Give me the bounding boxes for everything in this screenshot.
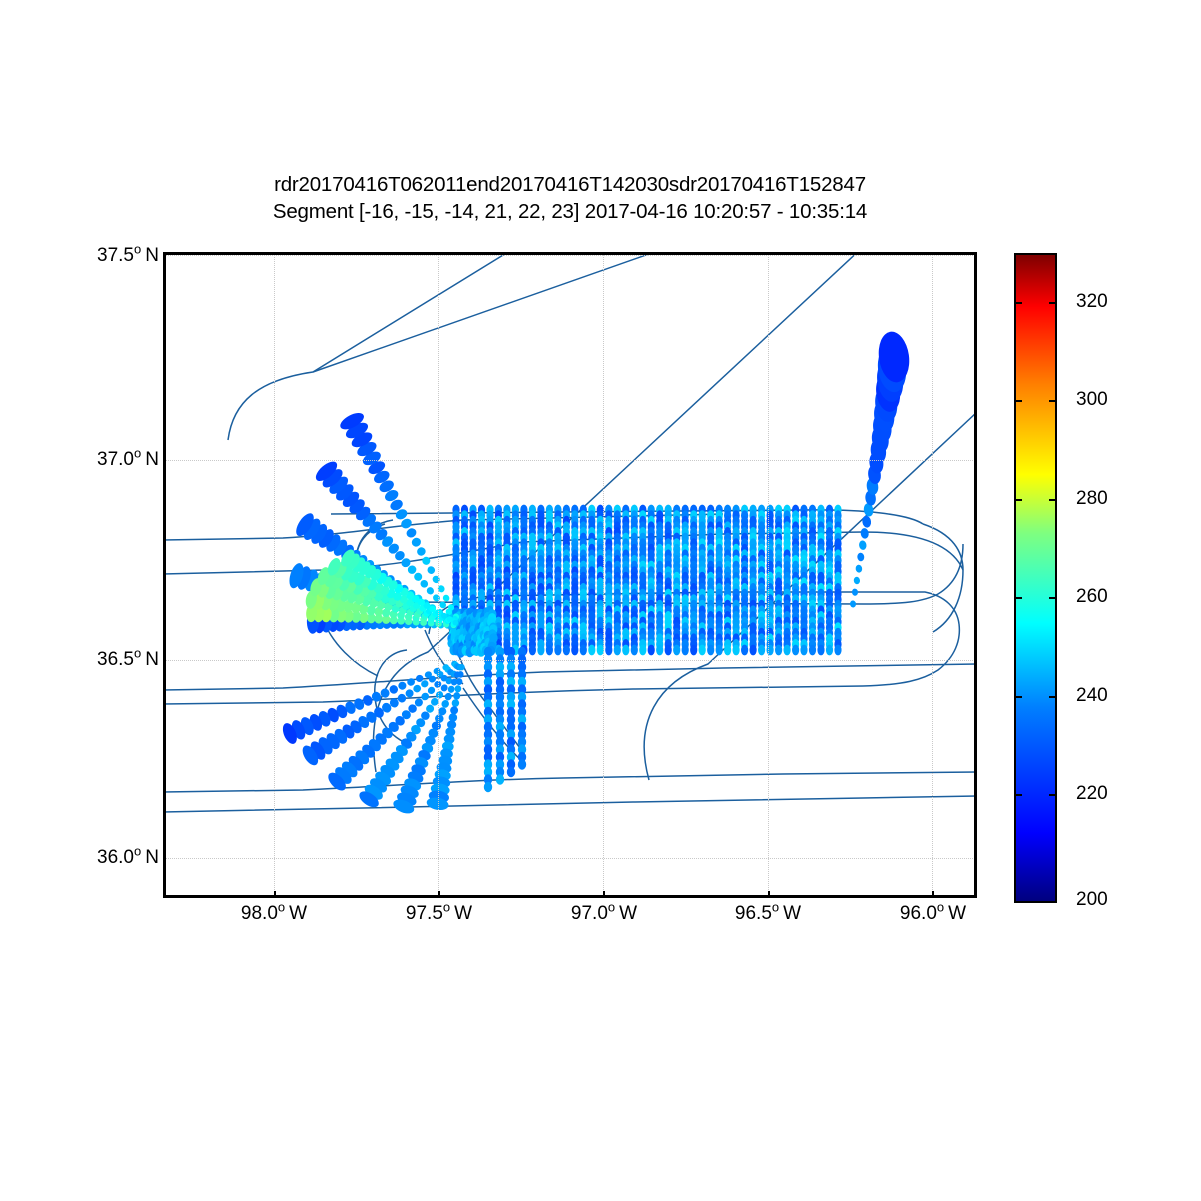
y-tick-label-36.0: 36.0oN (97, 847, 159, 869)
colorbar-tickmark (1049, 302, 1057, 304)
degree-symbol: o (278, 900, 285, 915)
chart-title: rdr20170416T062011end20170416T142030sdr2… (0, 172, 1140, 225)
x-tick-hemisphere: W (948, 903, 966, 924)
plot-area (163, 252, 977, 898)
colorbar-tickmark (1014, 696, 1022, 698)
colorbar-tick-label-300: 300 (1076, 389, 1108, 411)
x-tickmark (768, 891, 770, 898)
x-tick-label-96.5: 96.5oW (735, 903, 801, 925)
swath-footprint-grid (447, 505, 841, 658)
data-layer (163, 252, 977, 898)
y-tick-hemisphere: N (145, 649, 159, 670)
x-tick-label-96.0: 96.0oW (900, 903, 966, 925)
colorbar-tick-label-260: 260 (1076, 586, 1108, 608)
x-tick-value: 97.5 (406, 903, 443, 924)
degree-symbol: o (134, 446, 141, 461)
x-tick-value: 98.0 (241, 903, 278, 924)
gridline-vertical (603, 252, 604, 898)
y-tick-hemisphere: N (145, 449, 159, 470)
y-tick-value: 37.0 (97, 449, 134, 470)
colorbar-tick-label-320: 320 (1076, 291, 1108, 313)
y-tick-hemisphere: N (145, 245, 159, 266)
colorbar-tickmark (1049, 400, 1057, 402)
colorbar-tick-label-200: 200 (1076, 889, 1108, 911)
colorbar-gradient (1016, 255, 1055, 901)
x-tickmark (603, 891, 605, 898)
map-axes (163, 252, 977, 898)
colorbar-tickmark (1049, 696, 1057, 698)
colorbar-tickmark (1014, 302, 1022, 304)
x-tick-value: 96.5 (735, 903, 772, 924)
gridline-vertical (438, 252, 439, 898)
gridline-vertical (274, 252, 275, 898)
y-tick-label-37.0: 37.0oN (97, 449, 159, 471)
x-tick-hemisphere: W (783, 903, 801, 924)
x-tick-label-97.0: 97.0oW (571, 903, 637, 925)
east-beam-footprints (850, 330, 913, 608)
colorbar-tickmark (1049, 597, 1057, 599)
colorbar (1014, 253, 1057, 903)
colorbar-tickmark (1014, 499, 1022, 501)
y-tick-value: 36.0 (97, 847, 134, 868)
colorbar-tick-label-240: 240 (1076, 685, 1108, 707)
degree-symbol: o (772, 900, 779, 915)
degree-symbol: o (443, 900, 450, 915)
x-tick-label-97.5: 97.5oW (406, 903, 472, 925)
degree-symbol: o (937, 900, 944, 915)
title-line-1: rdr20170416T062011end20170416T142030sdr2… (0, 172, 1140, 199)
x-tick-value: 96.0 (900, 903, 937, 924)
y-tick-value: 36.5 (97, 649, 134, 670)
y-tick-value: 37.5 (97, 245, 134, 266)
x-tickmark (932, 891, 934, 898)
colorbar-tickmark (1014, 794, 1022, 796)
title-line-2: Segment [-16, -15, -14, 21, 22, 23] 2017… (0, 199, 1140, 226)
gridline-horizontal (163, 858, 977, 859)
degree-symbol: o (134, 844, 141, 859)
x-tickmark (438, 891, 440, 898)
x-tick-hemisphere: W (619, 903, 637, 924)
vertical-scan-columns (484, 647, 526, 792)
y-tick-hemisphere: N (145, 847, 159, 868)
gridline-horizontal (163, 660, 977, 661)
colorbar-tickmark (1049, 794, 1057, 796)
gridline-horizontal (163, 460, 977, 461)
x-tick-value: 97.0 (571, 903, 608, 924)
colorbar-tickmark (1014, 400, 1022, 402)
x-tick-hemisphere: W (454, 903, 472, 924)
x-tick-label-98.0: 98.0oW (241, 903, 307, 925)
degree-symbol: o (134, 646, 141, 661)
y-tick-label-37.5: 37.5oN (97, 245, 159, 267)
x-tick-hemisphere: W (289, 903, 307, 924)
colorbar-tickmark (1014, 597, 1022, 599)
degree-symbol: o (134, 242, 141, 257)
figure-canvas: rdr20170416T062011end20170416T142030sdr2… (0, 0, 1201, 1201)
gridline-vertical (768, 252, 769, 898)
colorbar-tick-label-280: 280 (1076, 488, 1108, 510)
x-tickmark (274, 891, 276, 898)
colorbar-tickmark (1049, 499, 1057, 501)
gridline-vertical (932, 252, 933, 898)
y-tick-label-36.5: 36.5oN (97, 649, 159, 671)
gridline-horizontal (163, 255, 977, 256)
colorbar-tick-label-220: 220 (1076, 783, 1108, 805)
degree-symbol: o (608, 900, 615, 915)
